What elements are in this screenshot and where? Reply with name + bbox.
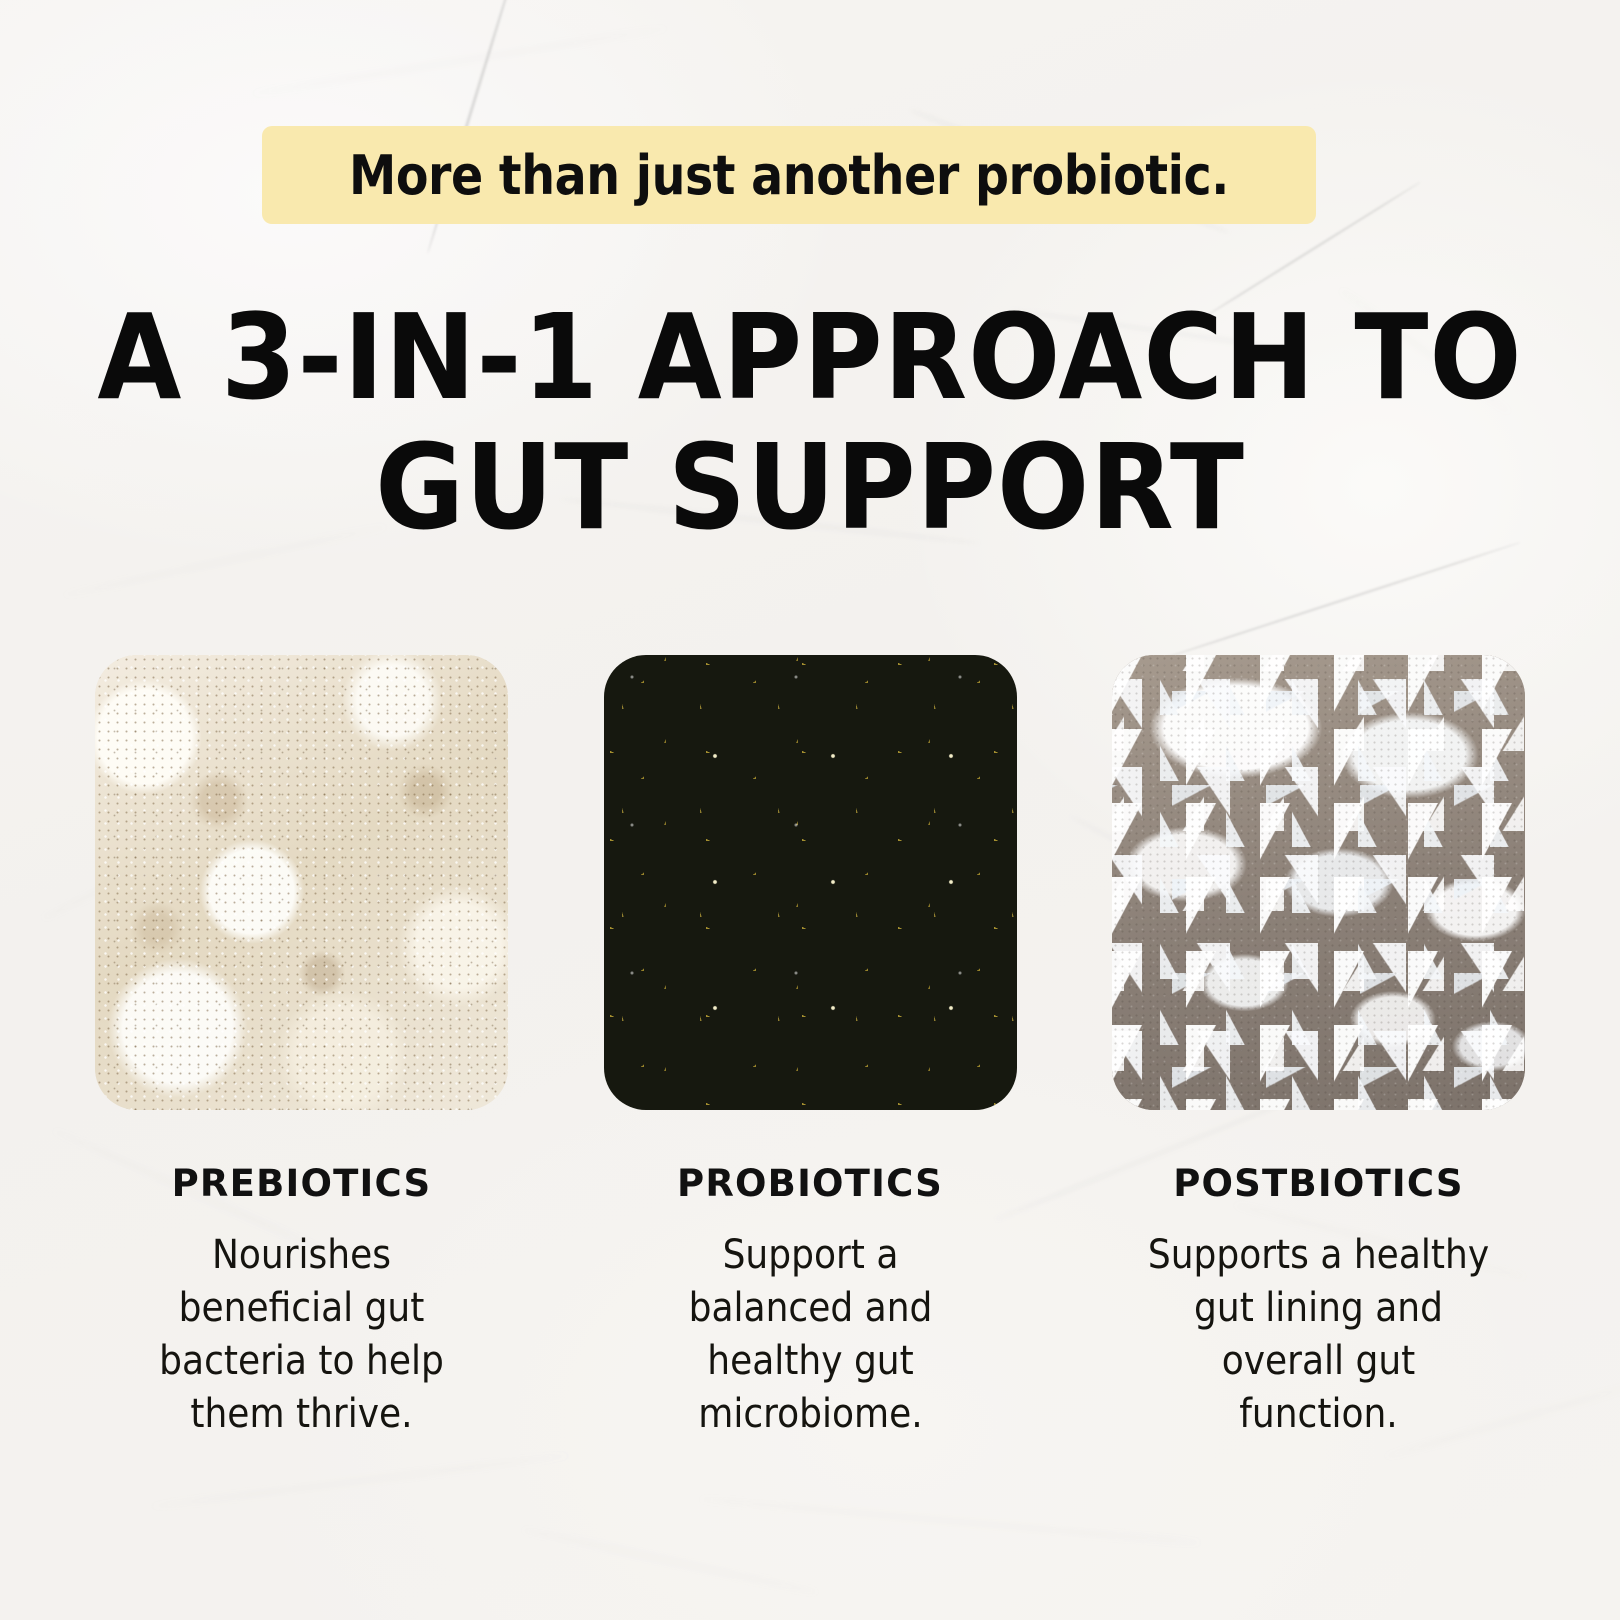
card-prebiotics: PREBIOTICS Nourishes beneficial gut bact… (95, 655, 508, 1441)
marble-vein (701, 1498, 1199, 1543)
card-description-line: beneficial gut (116, 1282, 488, 1335)
card-description-postbiotics: Supports a healthy gut lining and overal… (1133, 1229, 1505, 1441)
card-label-probiotics: PROBIOTICS (604, 1162, 1017, 1205)
card-description-line: balanced and (624, 1282, 996, 1335)
marble-vein (523, 1529, 817, 1593)
card-description-probiotics: Support a balanced and healthy gut micro… (624, 1229, 996, 1441)
marble-vein (1159, 541, 1521, 661)
crystal-texture (1112, 655, 1525, 1110)
card-description-line: microbiome. (624, 1388, 996, 1441)
card-label-prebiotics: PREBIOTICS (95, 1162, 508, 1205)
card-description-line: gut lining and (1133, 1282, 1505, 1335)
postbiotic-crystals-photo (1112, 655, 1525, 1110)
tagline-text: More than just another probiotic. (349, 144, 1229, 207)
card-description-line: overall gut (1133, 1335, 1505, 1388)
card-label-postbiotics: POSTBIOTICS (1112, 1162, 1525, 1205)
card-description-line: them thrive. (116, 1388, 488, 1441)
card-description-prebiotics: Nourishes beneficial gut bacteria to hel… (116, 1229, 488, 1441)
powder-texture (95, 655, 508, 1110)
page-title: A 3-IN-1 APPROACH TO GUT SUPPORT (0, 292, 1620, 552)
page-title-line-2: GUT SUPPORT (65, 422, 1555, 552)
prebiotic-powder-photo (95, 655, 508, 1110)
marble-vein (252, 27, 667, 95)
infographic-poster: More than just another probiotic. A 3-IN… (0, 0, 1620, 1620)
marble-vein (151, 1454, 568, 1507)
card-description-line: Supports a healthy (1133, 1229, 1505, 1282)
benefit-cards: PREBIOTICS Nourishes beneficial gut bact… (95, 655, 1525, 1441)
card-description-line: bacteria to help (116, 1335, 488, 1388)
page-title-line-1: A 3-IN-1 APPROACH TO (65, 292, 1555, 422)
card-description-line: function. (1133, 1388, 1505, 1441)
tagline-banner: More than just another probiotic. (262, 126, 1316, 224)
card-description-line: Support a (624, 1229, 996, 1282)
card-description-line: healthy gut (624, 1335, 996, 1388)
card-postbiotics: POSTBIOTICS Supports a healthy gut linin… (1112, 655, 1525, 1441)
bacteria-texture (604, 655, 1017, 1110)
card-probiotics: PROBIOTICS Support a balanced and health… (604, 655, 1017, 1441)
card-description-line: Nourishes (116, 1229, 488, 1282)
probiotic-bacteria-micrograph (604, 655, 1017, 1110)
